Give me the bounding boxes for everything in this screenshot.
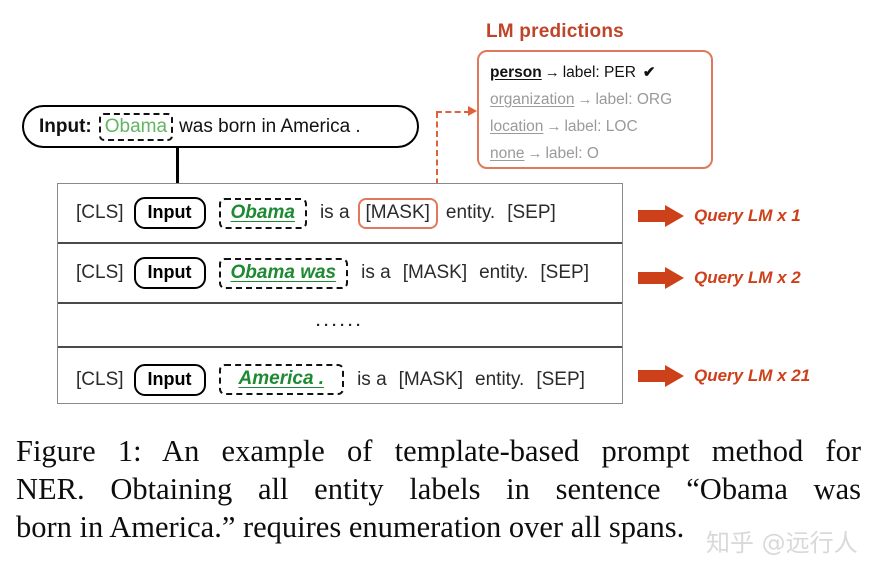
query-arrow-icon-2 — [638, 267, 684, 287]
query-lm-label-1: Query LM x 1 — [694, 206, 801, 226]
input-sentence-pill: Input: Obama was born in America . — [22, 105, 419, 148]
table-row: [CLS] Input America . is a [MASK] entity… — [58, 348, 622, 411]
query-lm-label-2: Query LM x 2 — [694, 268, 801, 288]
token-is-a: is a — [314, 202, 356, 224]
arrow-head — [665, 267, 684, 289]
caption-line-2: NER. Obtaining all entity labels in sent… — [16, 470, 861, 508]
query-arrow-icon-3 — [638, 365, 684, 385]
lm-prediction-row-person: person→label: PER✔ — [490, 59, 711, 86]
token-sep: [SEP] — [501, 202, 562, 224]
query-arrow-icon-1 — [638, 205, 684, 225]
lm-prediction-row-none: none→label: O — [490, 140, 711, 167]
candidate-span: America . — [219, 364, 345, 395]
token-sep: [SEP] — [534, 262, 595, 284]
lm-predictions-title: LM predictions — [486, 21, 624, 43]
arrow-shaft — [638, 370, 667, 382]
token-cls: [CLS] — [76, 262, 124, 284]
arrow-shaft — [638, 210, 667, 222]
lm-predictions-box: person→label: PER✔ organization→label: O… — [477, 50, 713, 169]
lm-prediction-row-location: location→label: LOC — [490, 113, 711, 140]
arrow-right-icon: → — [524, 145, 545, 162]
token-sep: [SEP] — [530, 369, 591, 391]
lm-entity-location: location — [490, 118, 543, 135]
input-sentence-rest: was born in America . — [173, 116, 361, 138]
mask-to-lm-arrowhead-icon — [468, 106, 477, 116]
arrow-shaft — [638, 272, 667, 284]
lm-entity-person: person — [490, 64, 542, 81]
table-row: [CLS] Input Obama was is a [MASK] entity… — [58, 244, 622, 304]
ellipsis-dots: ······ — [316, 317, 364, 334]
candidate-span: Obama — [219, 198, 307, 229]
table-row-ellipsis: ······ — [58, 304, 622, 348]
token-mask-highlighted: [MASK] — [358, 198, 438, 229]
token-mask: [MASK] — [397, 262, 473, 284]
arrow-head — [665, 205, 684, 227]
input-chip: Input — [134, 257, 206, 289]
lm-entity-none: none — [490, 145, 524, 162]
arrow-head — [665, 365, 684, 387]
token-entity: entity. — [469, 369, 530, 391]
token-is-a: is a — [351, 369, 393, 391]
arrow-right-icon: → — [542, 64, 563, 81]
input-entity-obama: Obama — [99, 113, 173, 141]
candidate-span: Obama was — [219, 258, 349, 289]
token-is-a: is a — [355, 262, 397, 284]
input-label: Input: — [39, 116, 99, 138]
lm-prediction-row-organization: organization→label: ORG — [490, 86, 711, 113]
token-cls: [CLS] — [76, 369, 124, 391]
token-cls: [CLS] — [76, 202, 124, 224]
token-entity: entity. — [440, 202, 501, 224]
token-mask: [MASK] — [393, 369, 469, 391]
template-table: [CLS] Input Obama is a [MASK] entity. [S… — [57, 183, 623, 404]
input-chip: Input — [134, 197, 206, 229]
lm-label-location: label: LOC — [564, 118, 637, 135]
lm-label-organization: label: ORG — [595, 91, 672, 108]
arrow-right-icon: → — [543, 118, 564, 135]
query-lm-label-3: Query LM x 21 — [694, 366, 810, 386]
zhihu-watermark: 知乎 @远行人 — [706, 523, 858, 558]
arrow-right-icon: → — [574, 91, 595, 108]
mask-to-lm-dashed-connector-horizontal — [436, 111, 470, 113]
input-chip: Input — [134, 364, 206, 396]
check-icon: ✔ — [636, 64, 656, 81]
mask-to-lm-dashed-connector-vertical — [436, 112, 438, 194]
table-row: [CLS] Input Obama is a [MASK] entity. [S… — [58, 184, 622, 244]
lm-entity-organization: organization — [490, 91, 574, 108]
lm-label-none: label: O — [545, 145, 598, 162]
caption-line-1: Figure 1: An example of template-based p… — [16, 432, 861, 470]
token-entity: entity. — [473, 262, 534, 284]
lm-label-person: label: PER — [563, 64, 636, 81]
